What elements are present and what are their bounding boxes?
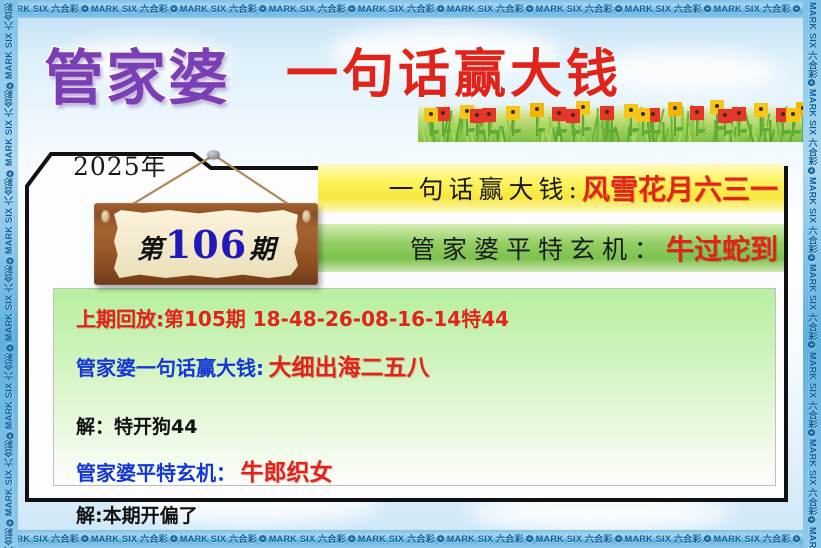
- result-line-phrase-explain: 解：特开狗44: [76, 412, 775, 439]
- poster-header: 管家婆 一句话赢大钱: [18, 18, 803, 140]
- ribbon-text: MARK SIX 六合彩: [536, 535, 613, 544]
- flower-separator-icon: ❂: [3, 79, 16, 89]
- flower-separator-icon: ❂: [168, 5, 180, 14]
- flower-separator-icon: ❂: [257, 535, 269, 544]
- flower-separator-icon: ❂: [791, 535, 803, 544]
- flower-petals: [754, 103, 768, 117]
- brand-logo: 管家婆: [44, 30, 230, 117]
- flower-separator-icon: ❂: [346, 5, 358, 14]
- ribbon-strip: MARK SIX 六合彩❂MARK SIX 六合彩❂MARK SIX 六合彩❂M…: [0, 0, 821, 18]
- flower-stem: [760, 115, 762, 136]
- flower-petals: [506, 106, 520, 120]
- flower-meadow-decoration: [418, 80, 821, 142]
- flower-petals: [470, 109, 484, 123]
- ribbon-text: MARK SIX 六合彩: [180, 5, 257, 14]
- phrase-value: 大细出海二五八: [268, 355, 429, 381]
- issue-suffix: 期: [249, 235, 275, 265]
- flower-separator-icon: ❂: [3, 254, 16, 264]
- year-label: 2025年: [73, 147, 167, 183]
- flower-stem: [606, 118, 608, 136]
- ribbon-text: MARK SIX 六合彩: [5, 2, 14, 79]
- screw-icon: [302, 210, 311, 223]
- flower-separator-icon: ❂: [524, 5, 536, 14]
- band-yijuhua-answer: 风雪花月六三一: [582, 168, 778, 208]
- flower-leaf: [697, 129, 705, 133]
- flower-separator-icon: ❂: [79, 5, 91, 14]
- flower-petals: [566, 109, 580, 123]
- border-ribbon-right: MARK SIX 六合彩❂MARK SIX 六合彩❂MARK SIX 六合彩❂M…: [803, 0, 821, 548]
- ribbon-text: MARK SIX 六合彩: [180, 535, 257, 544]
- flower-separator-icon: ❂: [806, 79, 819, 89]
- ribbon-text: MARK SIX 六合彩: [808, 177, 817, 254]
- previous-results-box: 上期回放:第105期 18-48-26-08-16-14特44 管家婆一句话赢大…: [53, 288, 776, 486]
- flower-stem: [536, 115, 538, 136]
- flower-petals: [530, 103, 544, 117]
- flower-separator-icon: ❂: [3, 167, 16, 177]
- flower-leaf: [653, 130, 661, 134]
- pingte-value: 牛郎织女: [240, 460, 332, 486]
- flower-separator-icon: ❂: [806, 254, 819, 264]
- flower-separator-icon: ❂: [346, 535, 358, 544]
- ribbon-text: MARK SIX 六合彩: [625, 5, 702, 14]
- flower-leaf: [631, 128, 639, 132]
- flower-separator-icon: ❂: [613, 5, 625, 14]
- ribbon-strip: MARK SIX 六合彩❂MARK SIX 六合彩❂MARK SIX 六合彩❂M…: [0, 530, 821, 548]
- ribbon-text: MARK SIX 六合彩: [269, 535, 346, 544]
- flower-leaf: [573, 130, 581, 134]
- border-ribbon-bottom: MARK SIX 六合彩❂MARK SIX 六合彩❂MARK SIX 六合彩❂M…: [0, 530, 821, 548]
- flower-petals: [718, 109, 732, 123]
- result-line-phrase: 管家婆一句话赢大钱: 大细出海二五八: [76, 348, 775, 382]
- flower-separator-icon: ❂: [524, 535, 536, 544]
- flower-leaf: [489, 130, 497, 134]
- ribbon-text: MARK SIX 六合彩: [269, 5, 346, 14]
- flower-stem: [674, 114, 676, 136]
- band-pingte-answer: 牛过蛇到: [666, 228, 778, 268]
- flower-petals: [600, 106, 614, 120]
- flower-separator-icon: ❂: [3, 341, 16, 351]
- flower-leaf: [477, 130, 485, 134]
- flower-separator-icon: ❂: [702, 5, 714, 14]
- ribbon-text: MARK SIX 六合彩: [358, 535, 435, 544]
- phrase-label: 管家婆一句话赢大钱:: [76, 356, 264, 380]
- flower-separator-icon: ❂: [168, 535, 180, 544]
- flower-separator-icon: ❂: [3, 516, 16, 526]
- ribbon-text: MARK SIX 六合彩: [91, 5, 168, 14]
- flower-separator-icon: ❂: [79, 535, 91, 544]
- flower-leaf: [583, 127, 591, 131]
- pingte-explain-text: 解:本期开偏了: [76, 505, 198, 527]
- poster-canvas: 管家婆 一句话赢大钱 一句话赢大钱: 风雪花月六三一 管家婆平特玄机： 牛过蛇到…: [0, 0, 821, 548]
- ribbon-text: MARK SIX 六合彩: [625, 535, 702, 544]
- flower-separator-icon: ❂: [806, 516, 819, 526]
- nail-icon: [207, 150, 220, 159]
- flower-leaf: [643, 130, 651, 134]
- sign-board: 第106期: [94, 203, 318, 285]
- flower-stem: [442, 119, 444, 136]
- replay-value: 第105期 18-48-26-08-16-14特44: [164, 307, 509, 331]
- flower-petals: [668, 102, 682, 116]
- flower-separator-icon: ❂: [257, 5, 269, 14]
- border-ribbon-left: MARK SIX 六合彩❂MARK SIX 六合彩❂MARK SIX 六合彩❂M…: [0, 0, 18, 548]
- flower-leaf: [513, 129, 521, 133]
- flower-separator-icon: ❂: [806, 341, 819, 351]
- flower-leaf: [793, 130, 801, 134]
- ribbon-text: MARK SIX 六合彩: [5, 264, 14, 341]
- ribbon-text: MARK SIX 六合彩: [5, 177, 14, 254]
- flower-leaf: [783, 130, 791, 134]
- flower-separator-icon: ❂: [435, 535, 447, 544]
- issue-number-group: 第106期: [137, 222, 275, 267]
- result-line-pingte-explain: 解:本期开偏了: [76, 501, 775, 528]
- result-line-pingte: 管家婆平特玄机： 牛郎织女: [76, 453, 775, 487]
- band-yijuhua-label: 一句话赢大钱:: [389, 170, 582, 206]
- issue-prefix: 第: [137, 235, 163, 265]
- flower-separator-icon: ❂: [702, 535, 714, 544]
- hanging-sign: 2025年 第106期: [25, 140, 355, 310]
- border-ribbon-top: MARK SIX 六合彩❂MARK SIX 六合彩❂MARK SIX 六合彩❂M…: [0, 0, 821, 18]
- flower-stem: [630, 116, 632, 136]
- flower-separator-icon: ❂: [435, 5, 447, 14]
- flower-separator-icon: ❂: [613, 535, 625, 544]
- band-pingte: 管家婆平特玄机： 牛过蛇到: [318, 224, 784, 272]
- ribbon-text: MARK SIX 六合彩: [447, 5, 524, 14]
- flower-leaf: [537, 128, 545, 132]
- ribbon-text: MARK SIX 六合彩: [714, 535, 791, 544]
- ribbon-text: MARK SIX 六合彩: [5, 439, 14, 516]
- ribbon-text: MARK SIX 六合彩: [358, 5, 435, 14]
- flower-separator-icon: ❂: [806, 167, 819, 177]
- flower-stem: [696, 118, 698, 136]
- ribbon-text: MARK SIX 六合彩: [808, 352, 817, 429]
- ribbon-text: MARK SIX 六合彩: [808, 2, 817, 79]
- phrase-explain-text: 解：特开狗44: [76, 416, 197, 438]
- flower-stem: [466, 117, 468, 136]
- ribbon-text: MARK SIX 六合彩: [714, 5, 791, 14]
- flower-petals: [690, 106, 704, 120]
- screw-icon: [101, 210, 110, 223]
- ribbon-strip: MARK SIX 六合彩❂MARK SIX 六合彩❂MARK SIX 六合彩❂M…: [0, 0, 18, 548]
- flower-separator-icon: ❂: [3, 429, 16, 439]
- ribbon-text: MARK SIX 六合彩: [808, 264, 817, 341]
- ribbon-text: MARK SIX 六合彩: [808, 527, 817, 548]
- ribbon-text: MARK SIX 六合彩: [91, 535, 168, 544]
- flower-stem: [512, 118, 514, 136]
- flower-petals: [786, 108, 800, 122]
- flower-petals: [552, 107, 566, 121]
- ribbon-text: MARK SIX 六合彩: [808, 439, 817, 516]
- band-yijuhua: 一句话赢大钱: 风雪花月六三一: [318, 164, 784, 212]
- flower-leaf: [725, 130, 733, 134]
- pingte-label: 管家婆平特玄机：: [76, 461, 236, 485]
- ribbon-text: MARK SIX 六合彩: [808, 89, 817, 166]
- issue-number: 106: [163, 222, 249, 267]
- flower-stem: [738, 119, 740, 136]
- band-pingte-label: 管家婆平特玄机：: [410, 230, 666, 266]
- ribbon-text: MARK SIX 六合彩: [5, 89, 14, 166]
- flower-leaf: [431, 130, 439, 134]
- flower-leaf: [607, 129, 615, 133]
- ribbon-text: MARK SIX 六合彩: [5, 527, 14, 548]
- ribbon-text: MARK SIX 六合彩: [536, 5, 613, 14]
- flower-leaf: [761, 128, 769, 132]
- flower-stem: [582, 113, 584, 136]
- flower-petals: [732, 107, 746, 121]
- replay-label: 上期回放:: [76, 307, 164, 331]
- flower-separator-icon: ❂: [806, 429, 819, 439]
- flower-petals: [424, 108, 438, 122]
- ribbon-strip: MARK SIX 六合彩❂MARK SIX 六合彩❂MARK SIX 六合彩❂M…: [803, 0, 821, 548]
- flower-petals: [636, 108, 650, 122]
- sign-paper: 第106期: [114, 210, 298, 278]
- ribbon-text: MARK SIX 六合彩: [5, 352, 14, 429]
- ribbon-text: MARK SIX 六合彩: [447, 535, 524, 544]
- flower-stem: [558, 119, 560, 136]
- flower-separator-icon: ❂: [791, 5, 803, 14]
